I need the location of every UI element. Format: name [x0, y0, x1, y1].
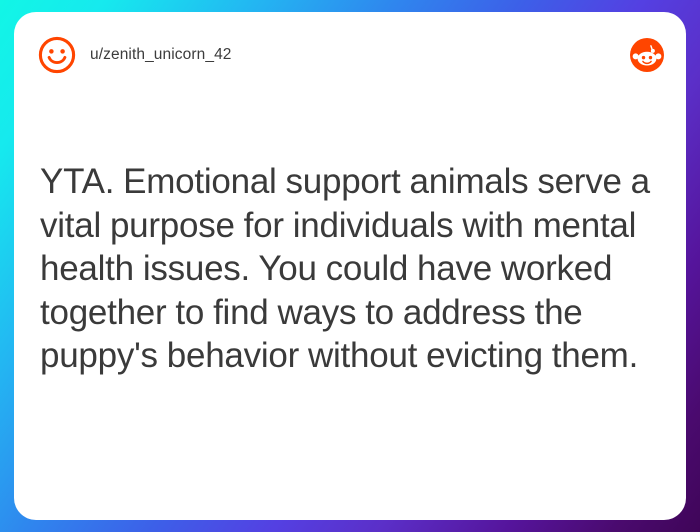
screenshot-stage: u/zenith_unicorn_42 YTA. Emotional suppo… [0, 0, 700, 532]
smiley-face-avatar-icon [38, 36, 76, 74]
reddit-comment-card: u/zenith_unicorn_42 YTA. Emotional suppo… [14, 12, 686, 520]
username-label: u/zenith_unicorn_42 [90, 46, 232, 64]
reddit-snoo-logo-icon [630, 38, 664, 72]
card-header: u/zenith_unicorn_42 [14, 12, 686, 98]
comment-text: YTA. Emotional support animals serve a v… [40, 160, 664, 378]
